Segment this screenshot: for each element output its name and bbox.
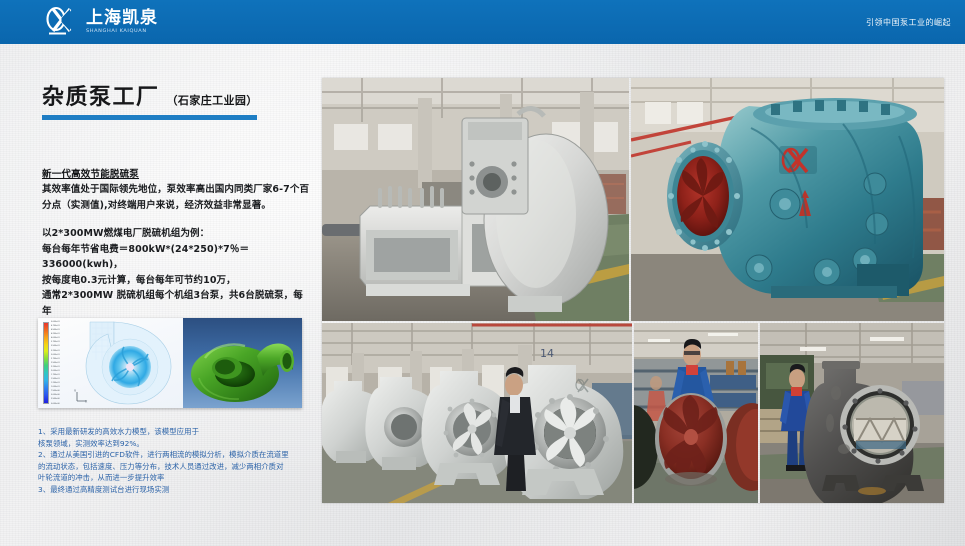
cfd-tick: 2.00E+01 — [51, 370, 75, 372]
photo-pump-casing-row[interactable]: 14 — [322, 323, 632, 503]
note-line: 核泵领域，实测效率达到92%。 — [38, 438, 316, 450]
note-line: 2、通过从美国引进的CFD软件，进行两相流的模拟分析，模拟介质在流道里 — [38, 449, 316, 461]
cfd-contour-image: 5.00E+01 4.75E+01 4.50E+01 4.25E+01 4.00… — [38, 318, 183, 408]
svg-text:X: X — [85, 400, 88, 404]
raw-casing-photo-render — [760, 323, 944, 503]
cfd-tick: 3.00E+01 — [51, 354, 75, 356]
cfd-tick: 5.00E+01 — [51, 321, 75, 323]
body-copy: 新一代高效节能脱硫泵 其效率值处于国际领先地位，泵效率高出国内同类厂家6-7个百… — [42, 167, 310, 335]
photo-blue-slurry-pump-casing[interactable] — [631, 78, 944, 321]
cfd-tick: 7.50E+00 — [51, 390, 75, 392]
white-pump-photo-render — [322, 78, 629, 321]
cfd-tick: 1.50E+01 — [51, 378, 75, 380]
cfd-tick: 2.50E+01 — [51, 362, 75, 364]
example-line-1: 以2*300MW燃煤电厂脱硫机组为例： — [42, 226, 310, 242]
cfd-tick: 4.00E+01 — [51, 337, 75, 339]
cfd-tick: 4.50E+01 — [51, 329, 75, 331]
photo-red-impellers[interactable] — [634, 323, 758, 503]
intro-line-2: 分点（实测值),对终端用户来说，经济效益非常显著。 — [42, 198, 310, 214]
svg-text:Y: Y — [74, 389, 77, 393]
cfd-tick: 1.75E+01 — [51, 374, 75, 376]
note-line: 的流动状态，包括速度、压力等分布，技术人员通过改进，减少两相介质对 — [38, 461, 316, 473]
cfd-tick: 3.50E+01 — [51, 345, 75, 347]
cfd-volute-contour-plot — [74, 320, 178, 406]
simulation-image-pair: 5.00E+01 4.75E+01 4.50E+01 4.25E+01 4.00… — [38, 318, 302, 408]
cfd-tick: 1.25E+01 — [51, 382, 75, 384]
header-slogan: 引领中国泵工业的崛起 — [866, 0, 951, 44]
intro-heading: 新一代高效节能脱硫泵 — [42, 167, 310, 182]
cfd-tick: 3.25E+01 — [51, 350, 75, 352]
example-line-4: 通常2*300MW 脱硫机组每个机组3台泵，共6台脱硫泵，每年 — [42, 288, 310, 319]
cfd-tick: 5.00E+00 — [51, 394, 75, 396]
cfd-axes-gizmo-icon: Y X — [74, 389, 88, 403]
cfd-colorbar-tick-labels: 5.00E+01 4.75E+01 4.50E+01 4.25E+01 4.00… — [51, 321, 75, 405]
title-sub-text: （石家庄工业园） — [167, 92, 258, 110]
cfd-tick: 3.75E+01 — [51, 341, 75, 343]
title-main-text: 杂质泵工厂 — [42, 86, 160, 110]
pump-row-photo-render: 14 — [322, 323, 632, 503]
cfd-tick: 4.75E+01 — [51, 325, 75, 327]
cfd-tick: 4.25E+01 — [51, 333, 75, 335]
page-title: 杂质泵工厂 （石家庄工业园） — [42, 86, 312, 120]
photo-gallery: 14 — [322, 78, 944, 503]
logo-text-en: SHANGHAI KAIQUAN — [86, 28, 158, 35]
technical-notes-block: 1、采用最新研发的高效水力模型，该模型应用于 核泵领域，实测效率达到92%。 2… — [38, 426, 316, 496]
left-content-column: 杂质泵工厂 （石家庄工业园） 新一代高效节能脱硫泵 其效率值处于国际领先地位，泵… — [0, 44, 320, 546]
cfd-tick: 1.00E+01 — [51, 386, 75, 388]
example-line-2: 每台每年节省电费＝800kW*(24*250)*7％＝336000(kwh)， — [42, 242, 310, 273]
brand-logo[interactable]: 上海凯泉 SHANGHAI KAIQUAN — [44, 6, 158, 38]
photo-raw-casing-inspection[interactable] — [760, 323, 944, 503]
green-volute-3d-image — [183, 318, 302, 408]
logo-text-cn: 上海凯泉 — [86, 9, 158, 28]
title-underline-rule — [42, 115, 257, 120]
cfd-tick: 2.25E+01 — [51, 366, 75, 368]
note-line: 叶轮流道的冲击，从而进一步提升效率 — [38, 472, 316, 484]
green-volute-3d-render — [183, 318, 302, 408]
cfd-tick: 0.00E+00 — [51, 403, 75, 405]
blue-pump-photo-render — [631, 78, 944, 321]
pump-brand-logo-icon — [779, 146, 817, 174]
kaiquan-k-mark-icon — [44, 6, 80, 38]
example-line-3: 按每度电0.3元计算，每台每年可节约10万， — [42, 273, 310, 289]
cfd-colorbar — [43, 322, 49, 404]
slide-root: 上海凯泉 SHANGHAI KAIQUAN 引领中国泵工业的崛起 杂质泵工厂 （… — [0, 0, 965, 546]
cfd-tick: 2.75E+01 — [51, 358, 75, 360]
note-line: 1、采用最新研发的高效水力模型，该模型应用于 — [38, 426, 316, 438]
page-header: 上海凯泉 SHANGHAI KAIQUAN 引领中国泵工业的崛起 — [0, 0, 965, 44]
photo-white-pump-assembly[interactable] — [322, 78, 629, 321]
note-line: 3、最终通过高精度测试台进行现场实测 — [38, 484, 316, 496]
red-impellers-photo-render — [634, 323, 758, 503]
cfd-tick: 2.50E+00 — [51, 398, 75, 400]
intro-line-1: 其效率值处于国际领先地位，泵效率高出国内同类厂家6-7个百 — [42, 182, 310, 198]
paragraph-spacer — [42, 213, 310, 226]
svg-text:14: 14 — [540, 347, 554, 360]
